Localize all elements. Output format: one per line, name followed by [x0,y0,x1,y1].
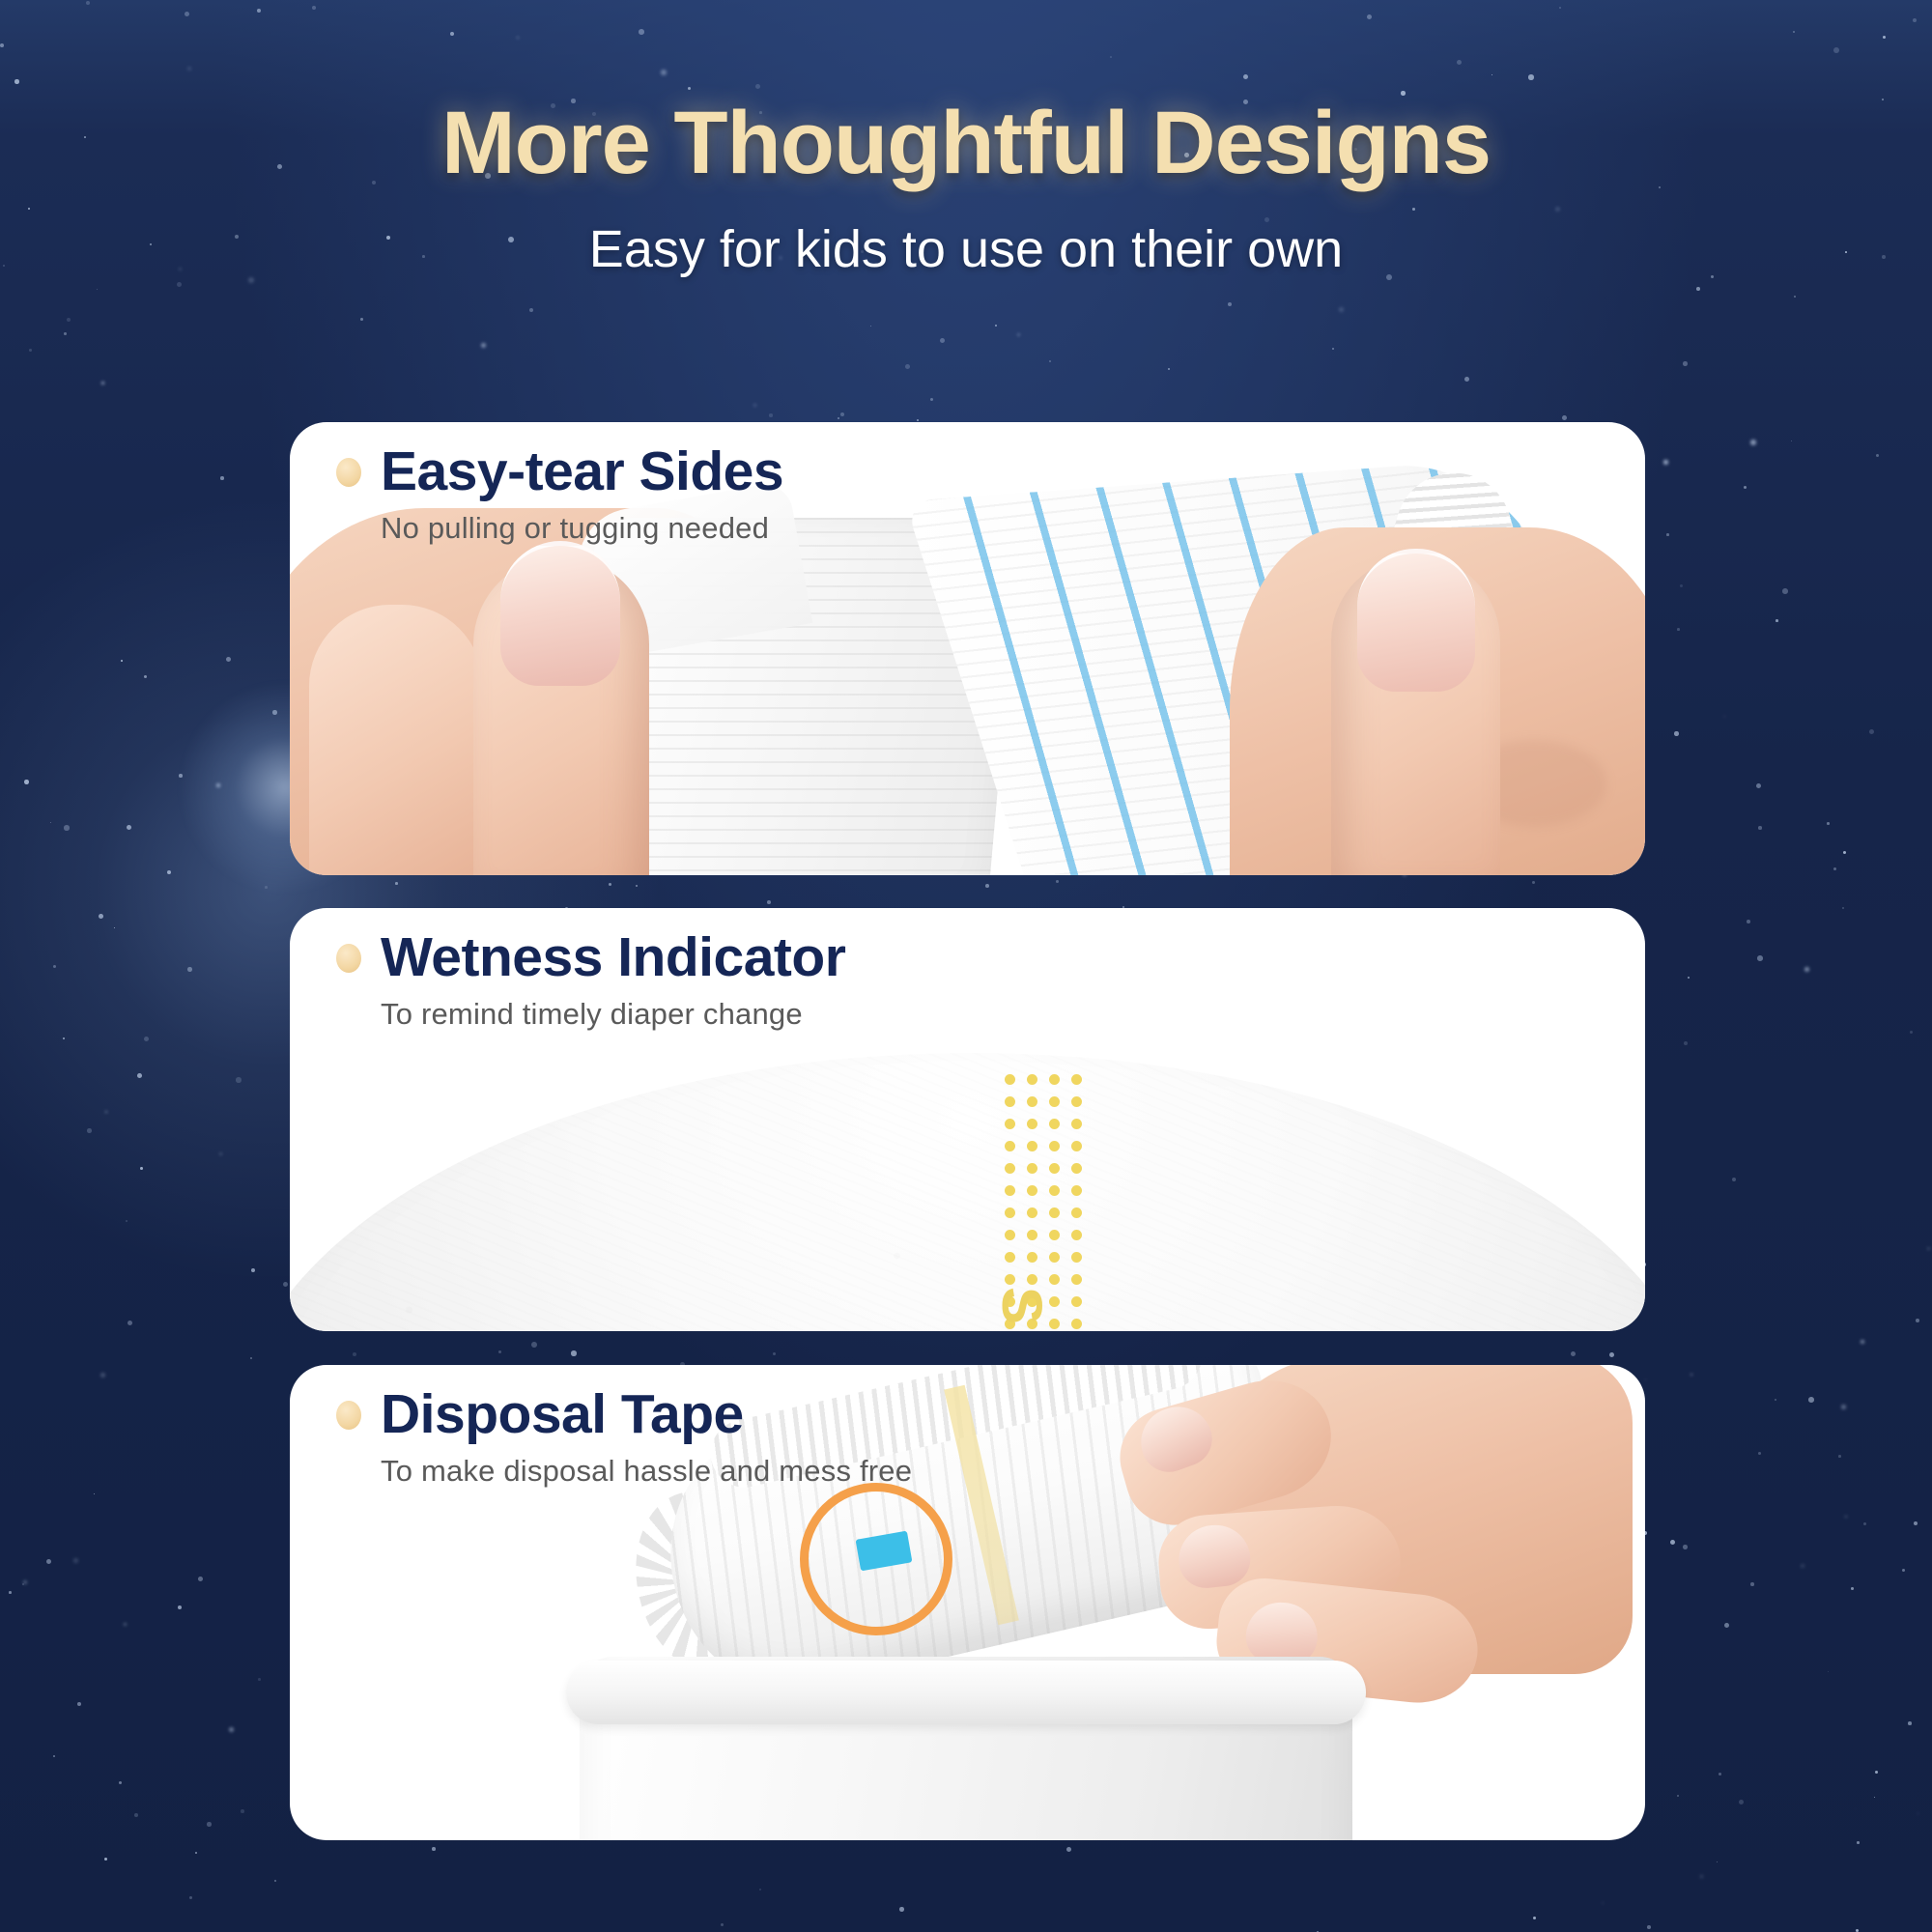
orange-highlight-circle [800,1483,952,1635]
left-index-finger [309,605,483,875]
indicator-dot [1071,1296,1082,1307]
fabric-texture [290,1053,1645,1331]
feature-title: Disposal Tape [381,1386,744,1444]
indicator-dot [1005,1185,1015,1196]
indicator-dot [1027,1274,1037,1285]
indicator-dot [1005,1141,1015,1151]
indicator-dot [1071,1319,1082,1329]
indicator-dot-row [1005,1207,1088,1218]
indicator-dot [1071,1096,1082,1107]
indicator-dot [1049,1252,1060,1263]
indicator-dot [1071,1074,1082,1085]
indicator-dot [1005,1074,1015,1085]
indicator-dot-row [1005,1252,1088,1263]
indicator-dot [1005,1096,1015,1107]
indicator-dot [1049,1119,1060,1129]
indicator-dot [1005,1163,1015,1174]
indicator-dot [1005,1252,1015,1263]
card-heading-block: Disposal Tape To make disposal hassle an… [336,1386,912,1489]
indicator-dot [1027,1119,1037,1129]
indicator-dot [1005,1207,1015,1218]
card-heading-block: Wetness Indicator To remind timely diape… [336,929,845,1032]
indicator-dot-row [1005,1163,1088,1174]
indicator-dot-row [1005,1119,1088,1129]
indicator-dot-row [1005,1141,1088,1151]
indicator-dot-row [1005,1074,1088,1085]
indicator-dot [1027,1252,1037,1263]
left-thumb-nail [500,541,620,686]
indicator-dot [1049,1185,1060,1196]
indicator-dot [1049,1074,1060,1085]
feature-subtitle: No pulling or tugging needed [381,511,783,546]
indicator-dot [1049,1141,1060,1151]
trash-bin-rim [566,1661,1366,1724]
indicator-dot [1005,1274,1015,1285]
feature-subtitle: To remind timely diaper change [381,997,845,1032]
indicator-dot [1071,1163,1082,1174]
feature-card-disposal-tape: Disposal Tape To make disposal hassle an… [290,1365,1645,1840]
indicator-dot [1027,1096,1037,1107]
indicator-dot-row [1005,1274,1088,1285]
indicator-dot [1049,1163,1060,1174]
indicator-dot [1071,1141,1082,1151]
indicator-dot [1049,1274,1060,1285]
feature-card-easy-tear-sides: Easy-tear Sides No pulling or tugging ne… [290,422,1645,875]
indicator-dot-row [1005,1185,1088,1196]
feature-card-wetness-indicator: S Wetness Indicator To remind timely dia… [290,908,1645,1331]
indicator-dot [1027,1207,1037,1218]
indicator-dot [1071,1274,1082,1285]
diaper-pad [290,1053,1645,1331]
indicator-dot [1071,1119,1082,1129]
page-title: More Thoughtful Designs [0,93,1932,194]
bullet-dot-icon [336,458,361,487]
indicator-dot [1049,1096,1060,1107]
card-heading-block: Easy-tear Sides No pulling or tugging ne… [336,443,783,546]
bullet-dot-icon [336,944,361,973]
indicator-dot [1027,1141,1037,1151]
page-header: More Thoughtful Designs Easy for kids to… [0,93,1932,279]
indicator-dot [1071,1207,1082,1218]
page-subtitle: Easy for kids to use on their own [0,219,1932,279]
indicator-dot [1027,1074,1037,1085]
indicator-dot [1005,1230,1015,1240]
indicator-dot [1071,1252,1082,1263]
indicator-dot [1005,1119,1015,1129]
feature-title: Wetness Indicator [381,929,845,987]
indicator-dot [1071,1230,1082,1240]
bullet-dot-icon [336,1401,361,1430]
indicator-dot [1049,1207,1060,1218]
wetness-indicator-letter: S [989,1287,1054,1324]
indicator-dot [1071,1185,1082,1196]
feature-subtitle: To make disposal hassle and mess free [381,1454,912,1489]
indicator-dot [1027,1230,1037,1240]
right-thumb-nail [1357,549,1475,692]
indicator-dot-row [1005,1230,1088,1240]
indicator-dot [1027,1163,1037,1174]
indicator-dot [1049,1230,1060,1240]
indicator-dot [1027,1185,1037,1196]
feature-title: Easy-tear Sides [381,443,783,501]
indicator-dot-row [1005,1096,1088,1107]
